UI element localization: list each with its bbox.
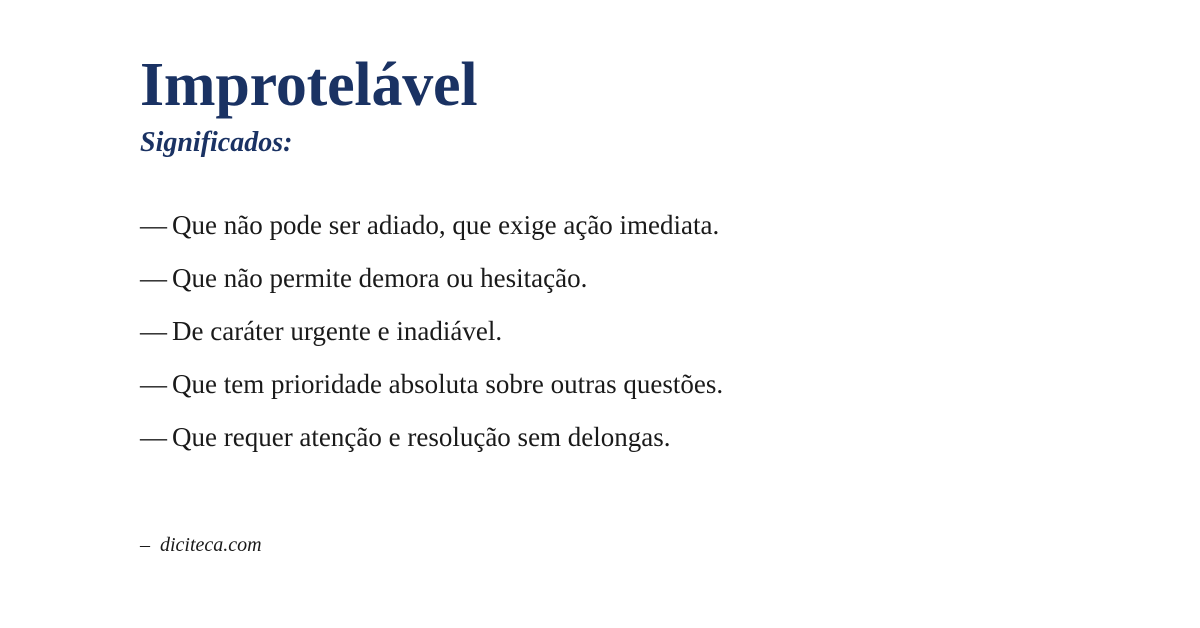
- definition-text: Que não permite demora ou hesitação.: [172, 261, 1100, 296]
- em-dash-marker-icon: —: [140, 367, 172, 402]
- definition-text: De caráter urgente e inadiável.: [172, 314, 1100, 349]
- meanings-subtitle: Significados:: [140, 128, 292, 159]
- em-dash-marker-icon: —: [140, 314, 172, 349]
- list-item: — Que tem prioridade absoluta sobre outr…: [140, 367, 1100, 402]
- em-dash-marker-icon: —: [140, 261, 172, 296]
- list-item: — De caráter urgente e inadiável.: [140, 314, 1100, 349]
- em-dash-marker-icon: —: [140, 420, 172, 455]
- definition-text: Que não pode ser adiado, que exige ação …: [172, 208, 1100, 243]
- source-attribution: – diciteca.com: [140, 534, 262, 557]
- en-dash-marker-icon: –: [140, 534, 160, 557]
- page-title: Improtelável: [140, 53, 477, 117]
- source-name: diciteca.com: [160, 534, 262, 557]
- definition-text: Que requer atenção e resolução sem delon…: [172, 420, 1100, 455]
- dictionary-entry-card: Improtelável Significados: — Que não pod…: [0, 0, 1200, 628]
- list-item: — Que requer atenção e resolução sem del…: [140, 420, 1100, 455]
- list-item: — Que não permite demora ou hesitação.: [140, 261, 1100, 296]
- definition-text: Que tem prioridade absoluta sobre outras…: [172, 367, 1100, 402]
- list-item: — Que não pode ser adiado, que exige açã…: [140, 208, 1100, 243]
- em-dash-marker-icon: —: [140, 208, 172, 243]
- definitions-list: — Que não pode ser adiado, que exige açã…: [140, 208, 1100, 455]
